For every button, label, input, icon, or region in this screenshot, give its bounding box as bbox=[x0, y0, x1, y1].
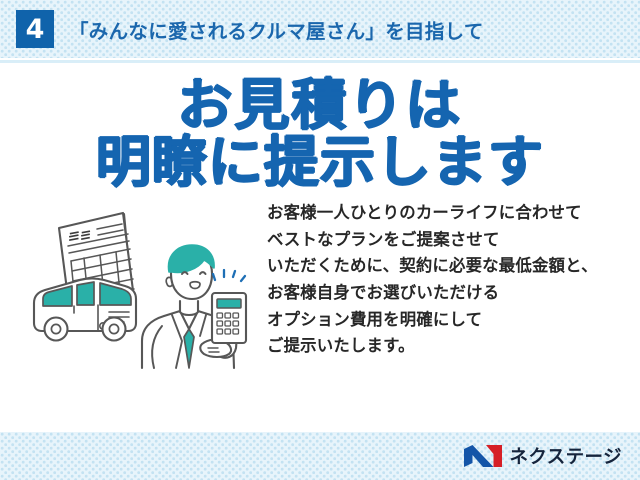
footer-bar: ネクステージ bbox=[0, 430, 640, 480]
main-content: お見積りは 明瞭に提示します bbox=[0, 63, 640, 430]
nextage-logo-text: ネクステージ bbox=[510, 443, 622, 469]
step-number-badge: 4 bbox=[16, 10, 54, 48]
illustration-svg bbox=[12, 196, 267, 371]
body-line: お客様一人ひとりのカーライフに合わせて bbox=[267, 200, 632, 227]
body-line: オプション費用を明確にして bbox=[267, 307, 632, 334]
body-line: お客様自身でお選びいただける bbox=[267, 280, 632, 307]
header-bar: 4 「みんなに愛されるクルマ屋さん」を目指して bbox=[0, 0, 640, 60]
step-number-label: 4 bbox=[26, 16, 45, 43]
promo-panel: 4 「みんなに愛されるクルマ屋さん」を目指して お見積りは 明瞭に提示します bbox=[0, 0, 640, 480]
salesman-estimate-van-illustration bbox=[12, 196, 267, 371]
body-copy: お客様一人ひとりのカーライフに合わせて ベストなプランをご提案させて いただくた… bbox=[267, 200, 640, 359]
headline-line-1: お見積りは bbox=[0, 77, 640, 134]
headline-line-2: 明瞭に提示します bbox=[0, 134, 640, 191]
nextage-logo: ネクステージ bbox=[463, 443, 622, 469]
headline-block: お見積りは 明瞭に提示します bbox=[0, 63, 640, 190]
body-line: ご提示いたします。 bbox=[267, 333, 632, 360]
body-line: ベストなプランをご提案させて bbox=[267, 227, 632, 254]
body-line: いただくために、契約に必要な最低金額と、 bbox=[267, 253, 632, 280]
header-title: 「みんなに愛されるクルマ屋さん」を目指して bbox=[69, 15, 484, 44]
lower-content-row: お客様一人ひとりのカーライフに合わせて ベストなプランをご提案させて いただくた… bbox=[0, 190, 640, 430]
nextage-n-mark-icon bbox=[463, 443, 503, 469]
